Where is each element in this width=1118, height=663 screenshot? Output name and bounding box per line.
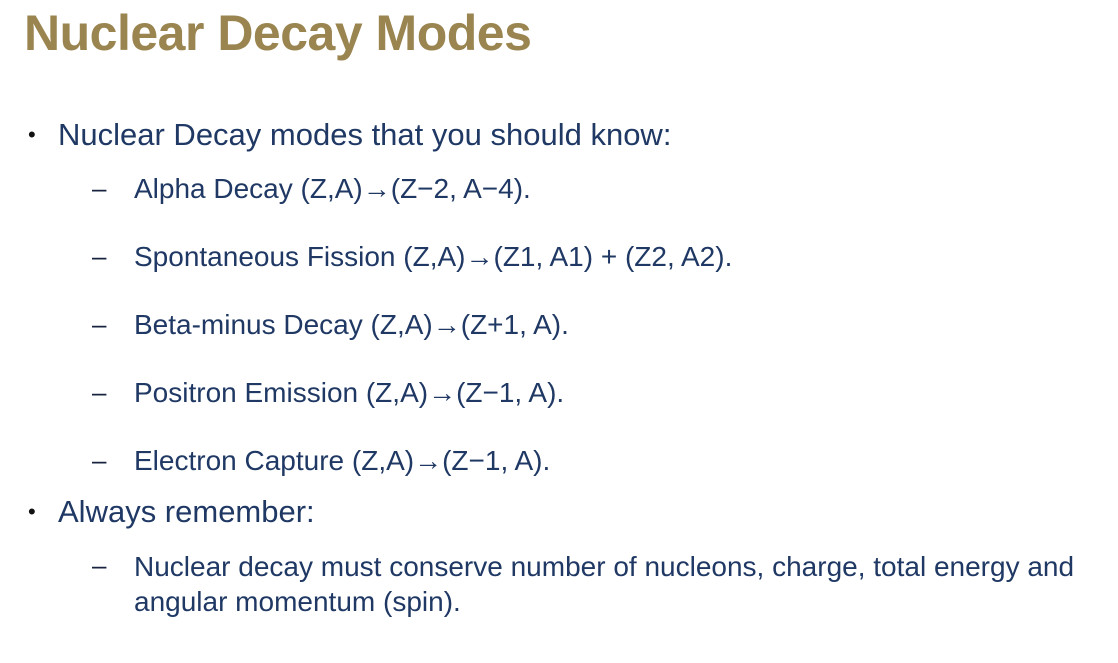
bullet-level1-label: Nuclear Decay modes that you should know… bbox=[58, 117, 671, 152]
slide-body: • Nuclear Decay modes that you should kn… bbox=[0, 118, 1118, 637]
bullet-level2-label: Alpha Decay (Z,A)→(Z−2, A−4). bbox=[134, 173, 531, 204]
dash-marker-icon: – bbox=[92, 376, 106, 409]
bullet-level2-label: Electron Capture (Z,A)→(Z−1, A). bbox=[134, 445, 550, 476]
dash-marker-icon: – bbox=[92, 240, 106, 273]
bullet-level2-label: Beta-minus Decay (Z,A)→(Z+1, A). bbox=[134, 309, 569, 340]
dash-marker-icon: – bbox=[92, 308, 106, 341]
slide-canvas: Nuclear Decay Modes • Nuclear Decay mode… bbox=[0, 0, 1118, 663]
bullet-level2-label: Spontaneous Fission (Z,A)→(Z1, A1) + (Z2… bbox=[134, 241, 732, 272]
content-block-always-remember: • Always remember: – Nuclear decay must … bbox=[0, 495, 1118, 619]
bullet-level2-label: Positron Emission (Z,A)→(Z−1, A). bbox=[134, 377, 564, 408]
sub-bullet-group-decay-modes: – Alpha Decay (Z,A)→(Z−2, A−4). – Sponta… bbox=[0, 172, 1118, 477]
bullet-level2-electron-capture: – Electron Capture (Z,A)→(Z−1, A). bbox=[0, 444, 1118, 477]
bullet-dot-icon: • bbox=[28, 118, 36, 152]
page-title: Nuclear Decay Modes bbox=[24, 2, 531, 64]
sub-bullet-group-always-remember: – Nuclear decay must conserve number of … bbox=[0, 549, 1118, 619]
bullet-level2-label: Nuclear decay must conserve number of nu… bbox=[134, 551, 1074, 617]
bullet-level1-label: Always remember: bbox=[58, 494, 315, 529]
bullet-level2-conservation-rule: – Nuclear decay must conserve number of … bbox=[0, 549, 1118, 619]
bullet-level1-always-remember: • Always remember: bbox=[0, 495, 1118, 529]
bullet-level2-spontaneous-fission: – Spontaneous Fission (Z,A)→(Z1, A1) + (… bbox=[0, 240, 1118, 273]
dash-marker-icon: – bbox=[92, 172, 106, 205]
content-block-decay-modes: • Nuclear Decay modes that you should kn… bbox=[0, 118, 1118, 477]
dash-marker-icon: – bbox=[92, 444, 106, 477]
bullet-dot-icon: • bbox=[28, 495, 36, 529]
bullet-level1-decay-modes: • Nuclear Decay modes that you should kn… bbox=[0, 118, 1118, 152]
bullet-level2-positron-emission: – Positron Emission (Z,A)→(Z−1, A). bbox=[0, 376, 1118, 409]
dash-marker-icon: – bbox=[92, 549, 106, 582]
bullet-level2-beta-minus-decay: – Beta-minus Decay (Z,A)→(Z+1, A). bbox=[0, 308, 1118, 341]
bullet-level2-alpha-decay: – Alpha Decay (Z,A)→(Z−2, A−4). bbox=[0, 172, 1118, 205]
